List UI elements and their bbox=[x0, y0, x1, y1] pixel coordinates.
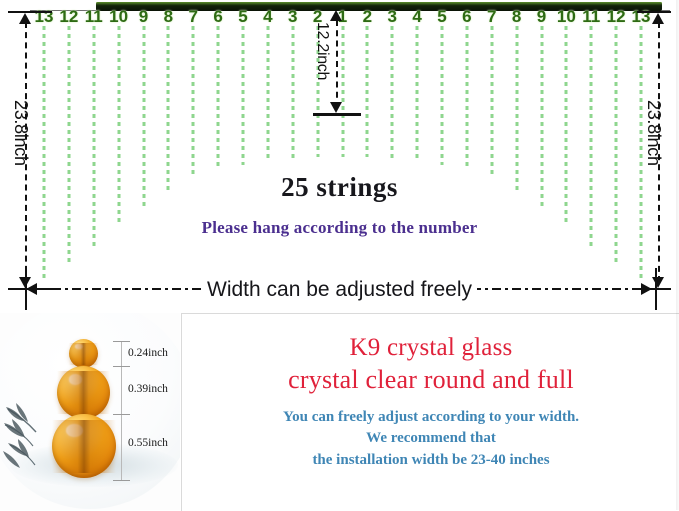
info-body-line3: the installation width be 23-40 inches bbox=[182, 450, 679, 471]
bead-small-seam bbox=[69, 343, 98, 365]
bead-large-seam bbox=[52, 420, 116, 473]
crystal-string-8 bbox=[217, 26, 220, 168]
center-dim-arrow-down bbox=[330, 102, 342, 113]
crystal-string-6 bbox=[167, 26, 170, 192]
measure-label-large: 0.55inch bbox=[128, 437, 168, 449]
string-number-23: 11 bbox=[582, 8, 600, 25]
crystal-string-16 bbox=[416, 26, 419, 160]
info-heading-line1: K9 crystal glass bbox=[182, 333, 679, 363]
center-dim-bottom-tick bbox=[313, 113, 361, 116]
string-number-18: 6 bbox=[462, 8, 471, 25]
ruler-tick-4 bbox=[113, 480, 130, 481]
crystal-string-18 bbox=[465, 26, 468, 168]
info-body: You can freely adjust according to your … bbox=[182, 407, 679, 471]
string-number-24: 12 bbox=[607, 8, 626, 25]
crystal-bead-photo: 0.24inch 0.39inch 0.55inch bbox=[0, 313, 180, 510]
string-number-7: 7 bbox=[189, 8, 198, 25]
info-body-line2: We recommend that bbox=[182, 428, 679, 449]
ruler-tick-3 bbox=[113, 414, 130, 415]
string-number-21: 9 bbox=[537, 8, 546, 25]
measure-label-small: 0.24inch bbox=[128, 347, 168, 359]
crystal-string-19 bbox=[490, 26, 493, 177]
ruler-tick-1 bbox=[113, 341, 130, 342]
hanging-diagram-panel: 131211109876543212345678910111213 23.8in… bbox=[0, 0, 679, 312]
curtain-rod-highlight bbox=[96, 2, 662, 5]
string-number-4: 10 bbox=[109, 8, 128, 25]
bead-medium-seam bbox=[57, 371, 110, 414]
product-info-panel: K9 crystal glass crystal clear round and… bbox=[181, 313, 679, 511]
string-number-22: 10 bbox=[557, 8, 576, 25]
measure-label-medium: 0.39inch bbox=[128, 383, 168, 395]
crystal-string-17 bbox=[441, 26, 444, 165]
crystal-string-20 bbox=[515, 26, 518, 192]
product-diagram-page: 131211109876543212345678910111213 23.8in… bbox=[0, 0, 679, 510]
string-number-19: 7 bbox=[487, 8, 496, 25]
string-number-10: 4 bbox=[263, 8, 272, 25]
crystal-string-13 bbox=[341, 26, 344, 157]
center-dim-line bbox=[336, 20, 338, 108]
string-number-15: 3 bbox=[388, 8, 397, 25]
width-note-text: Width can be adjusted freely bbox=[202, 278, 477, 301]
crystal-string-3 bbox=[92, 26, 95, 248]
string-number-20: 8 bbox=[512, 8, 521, 25]
string-number-6: 8 bbox=[164, 8, 173, 25]
string-number-17: 5 bbox=[437, 8, 446, 25]
crystal-string-23 bbox=[590, 26, 593, 248]
hang-instruction: Please hang according to the number bbox=[0, 218, 679, 238]
string-number-3: 11 bbox=[85, 8, 103, 25]
crystal-string-15 bbox=[391, 26, 394, 158]
string-number-11: 3 bbox=[288, 8, 297, 25]
crystal-string-10 bbox=[266, 26, 269, 160]
string-number-8: 6 bbox=[213, 8, 222, 25]
info-body-line1: You can freely adjust according to your … bbox=[182, 407, 679, 428]
ruler-tick-2 bbox=[113, 366, 130, 367]
crystal-string-1 bbox=[43, 26, 46, 282]
measurement-ruler bbox=[121, 341, 122, 481]
crystal-string-7 bbox=[192, 26, 195, 177]
crystal-string-9 bbox=[242, 26, 245, 165]
string-number-5: 9 bbox=[139, 8, 148, 25]
info-heading-line2: crystal clear round and full bbox=[182, 365, 679, 396]
center-measurement-label: 12.2inch bbox=[313, 22, 331, 80]
string-count-title: 25 strings bbox=[0, 172, 679, 203]
crystal-string-11 bbox=[291, 26, 294, 158]
string-number-9: 5 bbox=[238, 8, 247, 25]
width-note: Width can be adjusted freely bbox=[0, 278, 679, 302]
right-measurement-label: 23.8inch bbox=[643, 100, 664, 166]
string-number-2: 12 bbox=[59, 8, 78, 25]
left-measurement-label: 23.8inch bbox=[10, 100, 31, 166]
string-number-16: 4 bbox=[412, 8, 421, 25]
crystal-string-14 bbox=[366, 26, 369, 157]
string-number-14: 2 bbox=[363, 8, 372, 25]
